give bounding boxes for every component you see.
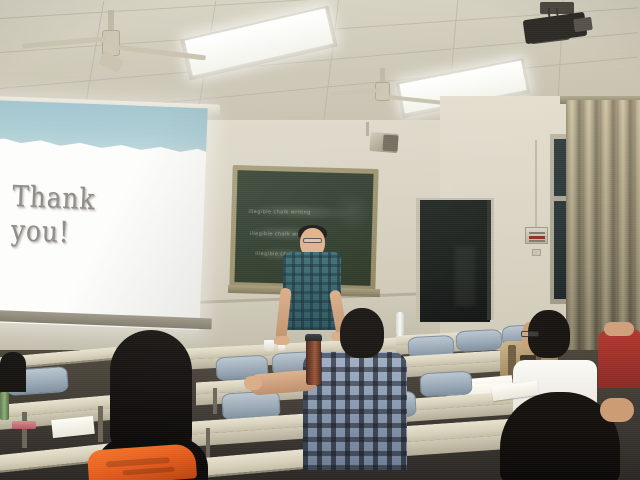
student-white-shirt-glasses: [521, 331, 539, 337]
desk-leg: [213, 388, 217, 414]
student-plaid-head: [340, 308, 384, 358]
door-edge: [487, 200, 491, 320]
student-left-hair: [110, 330, 192, 455]
desk-leg: [98, 406, 103, 442]
pink-item: [12, 421, 36, 429]
desk-leg: [22, 412, 27, 448]
green-bottle: [0, 392, 9, 420]
curtain-shading: [566, 100, 640, 352]
student-red-top: [598, 330, 640, 388]
speaker-bracket: [366, 122, 369, 136]
thermos: [306, 338, 321, 385]
lecturer-glasses: [303, 238, 322, 243]
wall-outlet[interactable]: [532, 249, 541, 256]
projector-lens: [573, 17, 593, 32]
door-interior-glow: [455, 246, 475, 306]
ceiling-fan-left-rod: [108, 10, 114, 32]
classroom-photo: Thank you! illegible chalk writing illeg…: [0, 0, 640, 480]
thermos-cap: [305, 334, 322, 341]
lecturer-left-hand: [274, 336, 290, 345]
wall-speaker-face: [382, 134, 398, 151]
water-bottle: [396, 312, 404, 336]
desk-leg: [206, 428, 210, 458]
orange-jacket: [87, 443, 197, 480]
paper-cup: [278, 345, 285, 351]
projection-screen: Thank you!: [0, 100, 208, 330]
person-background-left: [0, 352, 26, 392]
student-right-hand: [600, 398, 634, 422]
student-red-arm: [604, 322, 634, 336]
seat-back: [419, 371, 472, 398]
seat-back: [455, 329, 502, 352]
paper-cup: [264, 340, 274, 351]
wall-cable: [535, 140, 537, 228]
wall-switch-panel[interactable]: [525, 227, 548, 244]
student-plaid-hand: [244, 376, 262, 390]
